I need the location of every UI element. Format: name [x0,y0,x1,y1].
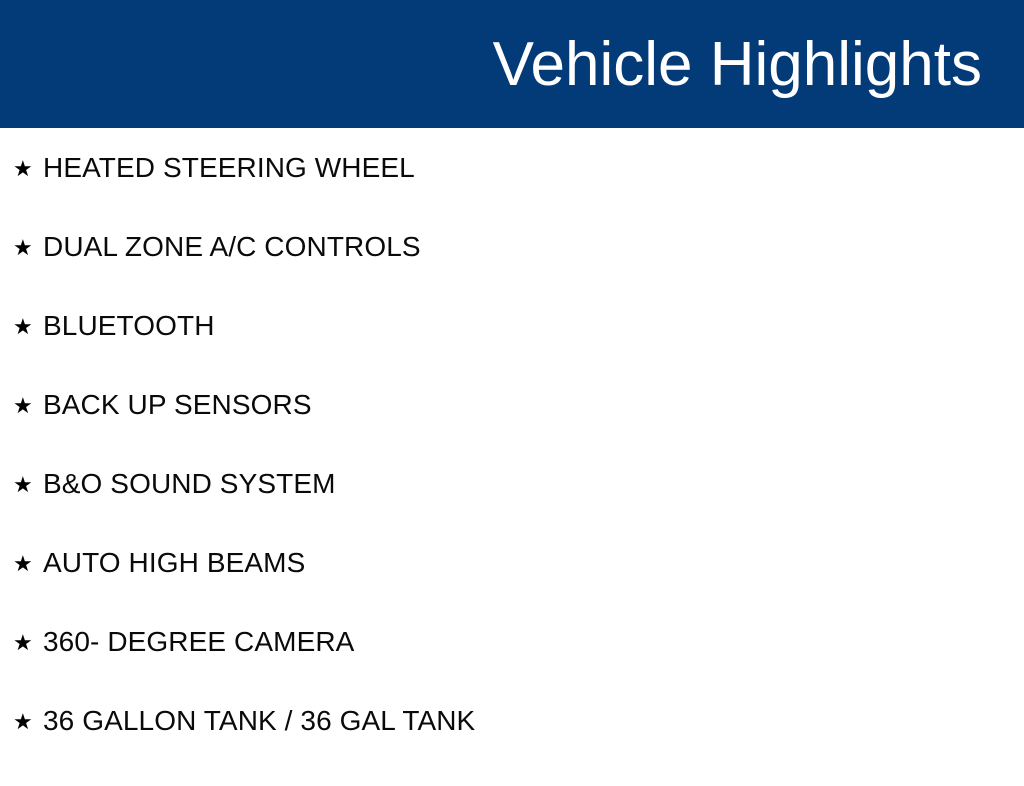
list-item: ★ 36 GALLON TANK / 36 GAL TANK [0,707,1024,786]
list-item: ★ DUAL ZONE A/C CONTROLS [0,233,1024,312]
star-icon: ★ [13,317,43,339]
highlight-label: AUTO HIGH BEAMS [43,549,305,577]
star-icon: ★ [13,396,43,418]
list-item: ★ 360- DEGREE CAMERA [0,628,1024,707]
star-icon: ★ [13,475,43,497]
header-banner: Vehicle Highlights [0,0,1024,128]
highlight-label: HEATED STEERING WHEEL [43,154,415,182]
star-icon: ★ [13,554,43,576]
list-item: ★ HEATED STEERING WHEEL [0,128,1024,233]
list-item: ★ BACK UP SENSORS [0,391,1024,470]
list-item: ★ B&O SOUND SYSTEM [0,470,1024,549]
highlight-label: B&O SOUND SYSTEM [43,470,336,498]
star-icon: ★ [13,712,43,734]
highlight-label: 360- DEGREE CAMERA [43,628,354,656]
star-icon: ★ [13,238,43,260]
highlight-label: DUAL ZONE A/C CONTROLS [43,233,421,261]
highlight-label: 36 GALLON TANK / 36 GAL TANK [43,707,475,735]
list-item: ★ BLUETOOTH [0,312,1024,391]
star-icon: ★ [13,159,43,181]
highlight-label: BACK UP SENSORS [43,391,312,419]
highlights-list: ★ HEATED STEERING WHEEL ★ DUAL ZONE A/C … [0,128,1024,768]
vehicle-highlights-slide: Vehicle Highlights ★ HEATED STEERING WHE… [0,0,1024,768]
list-item: ★ AUTO HIGH BEAMS [0,549,1024,628]
page-title: Vehicle Highlights [493,34,982,96]
star-icon: ★ [13,633,43,655]
highlight-label: BLUETOOTH [43,312,215,340]
